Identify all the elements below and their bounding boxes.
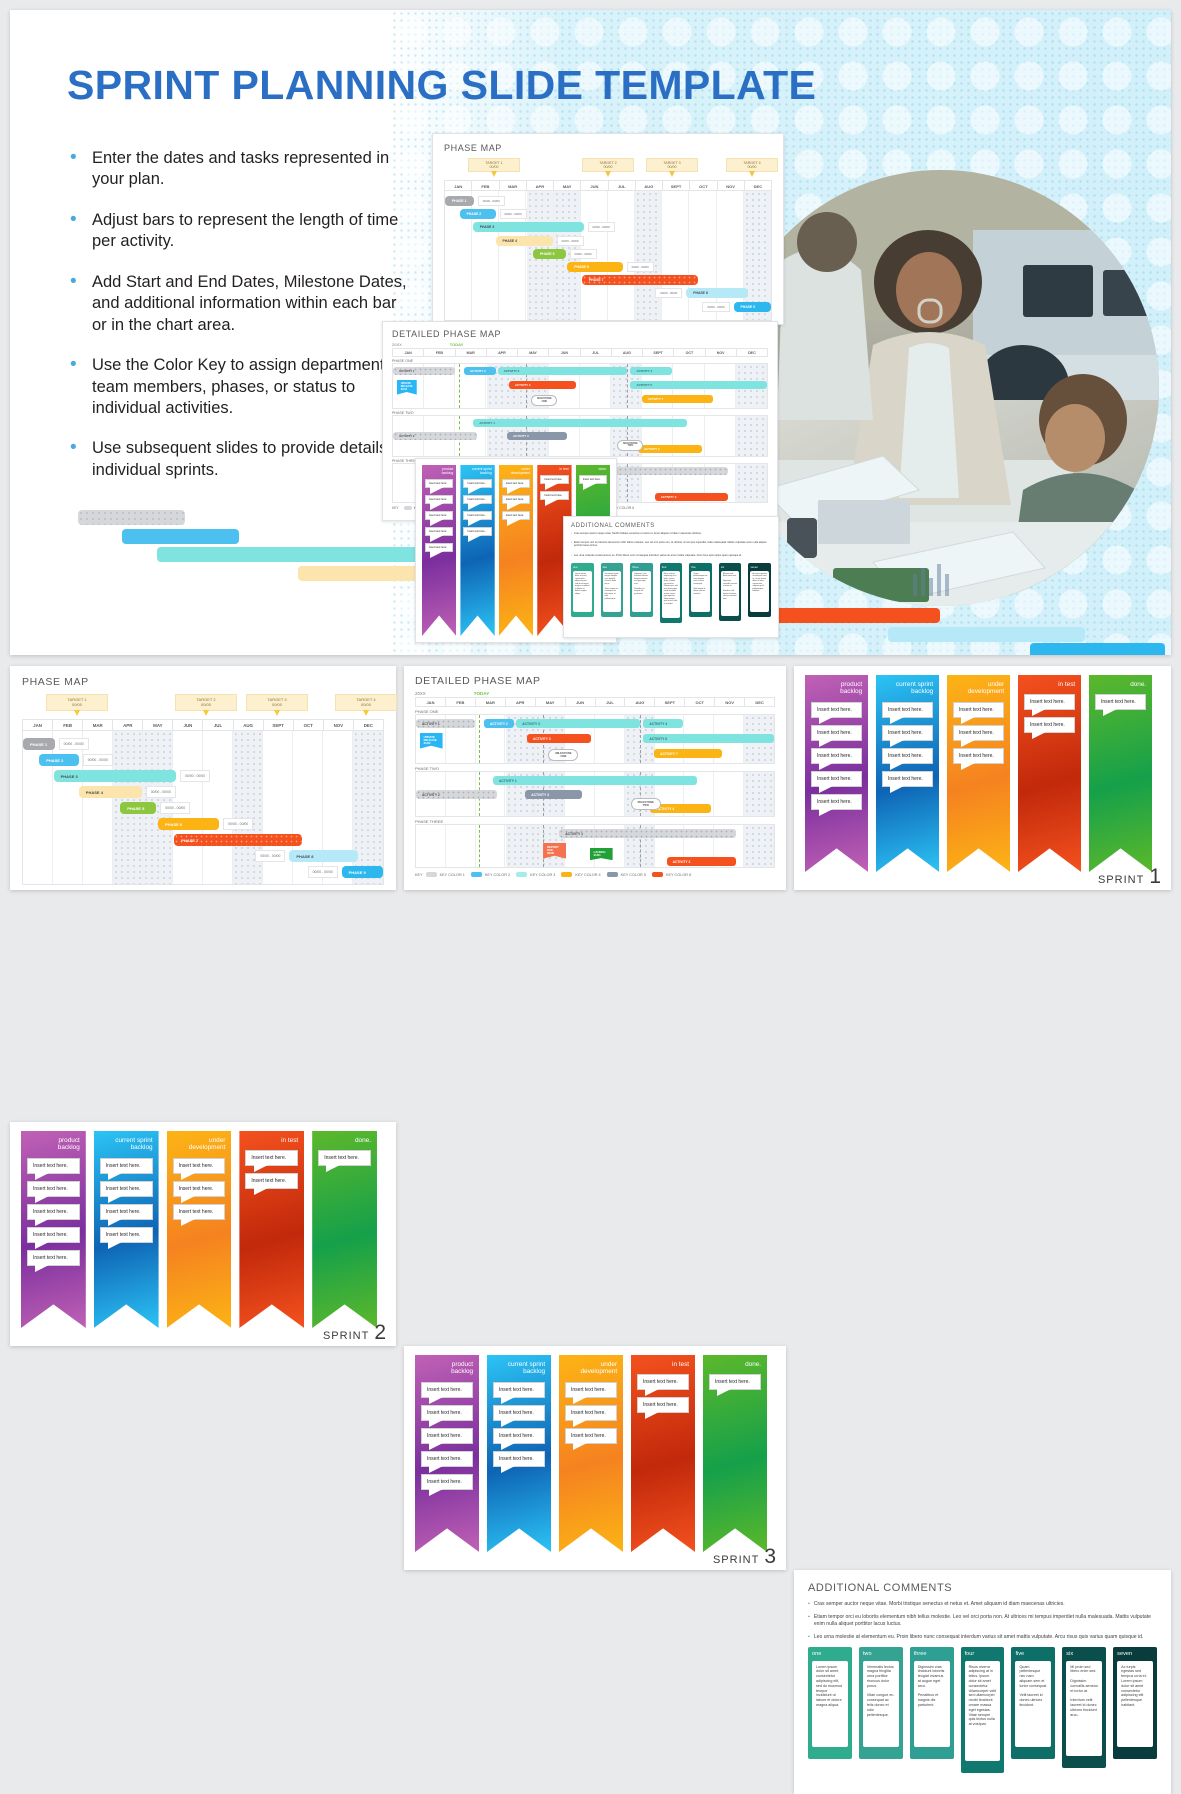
comment-card[interactable]: fiveQuam pellentesque nec nam aliquam se… <box>689 563 712 617</box>
thumbnail-detailed-phase-map[interactable]: DETAILED PHASE MAP 20XX TODAY JANFEBMARA… <box>404 666 786 890</box>
key-color-label: KEY COLOR 3 <box>530 873 555 877</box>
bullet-square-icon: ▪ <box>808 1634 810 1641</box>
comment-card[interactable]: sixMi proin sed libero enim sed. Digniss… <box>1062 1647 1106 1769</box>
comment-bullet: ▪Cras semper auctor neque vitae. Morbi t… <box>808 1601 1157 1608</box>
month-cell: AUG <box>625 698 655 706</box>
bullet-square-icon: ▪ <box>808 1601 810 1608</box>
gantt-bar[interactable]: PHASE 4 <box>79 786 142 798</box>
activity-bar[interactable]: ACTIVITY 4 <box>630 367 671 375</box>
kanban-card[interactable]: Insert text here. <box>421 1405 473 1421</box>
bullet-list: • Enter the dates and tasks represented … <box>70 148 410 500</box>
kanban-card[interactable]: Insert text here. <box>953 748 1004 764</box>
kanban-column-title: productbacklog <box>425 468 453 476</box>
comment-card[interactable]: sevenAc turpis egestas sed tempus urna e… <box>1113 1647 1157 1759</box>
flag-line: 00/00 <box>547 852 562 855</box>
title-line: current sprint <box>882 681 933 688</box>
month-cell: FEB <box>424 349 455 356</box>
activity-bar[interactable]: ACTIVITY 3 <box>507 432 567 440</box>
comment-card[interactable]: oneLorem ipsum dolor sit amet, consectet… <box>571 563 594 617</box>
month-cell: MAR <box>476 698 506 706</box>
activity-bar-label: ACTIVITY 4 <box>644 447 660 451</box>
gantt-date-label: 00/00 - 00/00 <box>180 770 210 782</box>
kanban-card[interactable]: Insert text here. <box>425 479 453 488</box>
activity-bar[interactable]: ACTIVITY 1 <box>416 719 475 728</box>
title-line: development <box>565 1368 617 1375</box>
kanban-card[interactable]: Insert text here. <box>493 1382 545 1398</box>
gantt-bar-label: PHASE 5 <box>540 252 555 256</box>
sprint-word: SPRINT <box>1098 874 1144 886</box>
grid-column <box>608 191 635 320</box>
gantt-bar[interactable]: PHASE 7 <box>582 275 698 285</box>
grid-column <box>662 191 689 320</box>
title-line: in test <box>245 1137 298 1144</box>
kanban-column[interactable]: underdevelopmentInsert text here.Insert … <box>167 1131 232 1328</box>
activity-bar[interactable]: ACTIVITY 4 <box>638 445 702 453</box>
milestone-badge[interactable]: MILESTONEONE <box>548 749 578 761</box>
activity-bar[interactable]: ACTIVITY 6 <box>643 734 774 743</box>
detailed-phase-map-title: DETAILED PHASE MAP <box>415 675 775 687</box>
kanban-card[interactable]: Insert text here. <box>173 1158 226 1174</box>
activity-bar[interactable]: ACTIVITY 1 <box>393 367 455 375</box>
title-line: under <box>953 681 1004 688</box>
kanban-card[interactable]: Insert text here. <box>100 1181 153 1197</box>
bullet-dot-icon: • <box>70 438 92 481</box>
kanban-column[interactable]: current sprintbacklogInsert text here.In… <box>876 675 939 872</box>
kanban-card[interactable]: Insert text here. <box>173 1204 226 1220</box>
phase-band: ACTIVITY 1ACTIVITY 2REPORT DUE00/00LAUNC… <box>415 824 775 868</box>
phase-band: ACTIVITY 1ACTIVITY 2ACTIVITY 3ACTIVITY 4… <box>415 714 775 764</box>
kanban-card[interactable]: Insert text here. <box>100 1204 153 1220</box>
kanban-card[interactable]: Insert text here. <box>318 1150 371 1166</box>
phase-band: ACTIVITY 1ACTIVITY 2ACTIVITY 3ACTIVITY 4… <box>392 415 768 457</box>
kanban-card[interactable]: Insert text here. <box>27 1204 80 1220</box>
kanban-card[interactable]: Insert text here. <box>421 1474 473 1490</box>
kanban-column[interactable]: productbacklogInsert text here.Insert te… <box>21 1131 86 1328</box>
comment-card-heading: seven <box>750 565 769 569</box>
kanban-column[interactable]: current sprintbacklogInsert text here.In… <box>94 1131 159 1328</box>
kanban-card[interactable]: Insert text here. <box>173 1181 226 1197</box>
month-cell: AUG <box>612 349 643 356</box>
comments-title: ADDITIONAL COMMENTS <box>808 1582 1157 1594</box>
kanban-card[interactable]: Insert text here. <box>565 1382 617 1398</box>
month-cell: JUN <box>549 349 580 356</box>
kanban-card[interactable]: Insert text here. <box>1024 694 1075 710</box>
comments-bullets: ▪Cras semper auctor neque vitae. Morbi t… <box>571 532 771 557</box>
activity-bar-label: ACTIVITY 2 <box>470 369 486 373</box>
activity-bar-label: ACTIVITY 7 <box>660 752 678 756</box>
gantt-bar[interactable]: PHASE 5 <box>120 802 156 814</box>
comments-title: ADDITIONAL COMMENTS <box>571 523 771 529</box>
kanban-card[interactable]: Insert text here. <box>502 495 530 504</box>
kanban-column[interactable]: productbacklogInsert text here.Insert te… <box>422 465 456 636</box>
kanban-card[interactable]: Insert text here. <box>953 725 1004 741</box>
kanban-card[interactable]: Insert text here. <box>882 748 933 764</box>
kanban-card[interactable]: Insert text here. <box>502 479 530 488</box>
gantt-bar[interactable]: PHASE 3 <box>54 770 176 782</box>
month-cell: NOV <box>324 720 354 730</box>
kanban-card[interactable]: Insert text here. <box>811 771 862 787</box>
gantt-date-label: 00/00 - 00/00 <box>83 754 113 766</box>
key-swatch <box>561 872 572 877</box>
kanban-card[interactable]: Insert text here. <box>27 1227 80 1243</box>
month-cell: NOV <box>715 698 745 706</box>
gantt-bar-label: PHASE 2 <box>467 212 482 216</box>
kanban-card[interactable]: Insert text here. <box>811 725 862 741</box>
kanban-card[interactable]: Insert text here. <box>709 1374 761 1390</box>
target-date: 00/00 <box>727 165 777 169</box>
title-line: backlog <box>425 472 453 476</box>
kanban-card[interactable]: Insert text here. <box>463 479 491 488</box>
activity-bar[interactable]: ACTIVITY 4 <box>643 719 682 728</box>
bullet-text: Use the Color Key to assign departments,… <box>92 355 410 419</box>
kanban-card[interactable]: Insert text here. <box>953 702 1004 718</box>
kanban-card[interactable]: Insert text here. <box>882 702 933 718</box>
kanban-card[interactable]: Insert text here. <box>493 1428 545 1444</box>
comment-card[interactable]: threeDignissim cras tincidunt lobortis f… <box>630 563 653 617</box>
kanban-column[interactable]: in testInsert text here.Insert text here… <box>631 1355 695 1552</box>
gantt-bar[interactable]: PHASE 9 <box>734 302 771 312</box>
kanban-card[interactable]: Insert text here. <box>27 1158 80 1174</box>
kanban-column-title: productbacklog <box>27 1137 80 1152</box>
activity-bar-label: ACTIVITY 1 <box>499 779 517 783</box>
title-line: backlog <box>811 688 862 695</box>
activity-bar[interactable]: ACTIVITY 3 <box>498 367 627 375</box>
thumbnail-sprint-1[interactable]: productbacklogInsert text here.Insert te… <box>794 666 1171 890</box>
kanban-card[interactable]: Insert text here. <box>882 771 933 787</box>
kanban-column-title: current sprintbacklog <box>493 1361 545 1376</box>
comment-bullet: ▪Leo urna molestie at elementum eu. Proi… <box>571 554 771 557</box>
comment-card-heading: seven <box>1117 1651 1153 1657</box>
team-photo <box>723 170 1159 606</box>
comment-card[interactable]: threeDignissim cras tincidunt lobortis f… <box>910 1647 954 1759</box>
target-marker: TARGET 1 00/00 <box>46 694 108 711</box>
thumbnail-additional-comments[interactable]: ADDITIONAL COMMENTS ▪Cras semper auctor … <box>794 1570 1171 1794</box>
gantt-bar-label: PHASE 8 <box>693 291 708 295</box>
kanban-card[interactable]: Insert text here. <box>565 1428 617 1444</box>
kanban-column[interactable]: underdevelopmentInsert text here.Insert … <box>559 1355 623 1552</box>
comment-card[interactable]: fourRisus viverra adipiscing at in tellu… <box>961 1647 1005 1773</box>
grid-column <box>714 772 744 816</box>
gantt-date-label: 00/00 - 00/00 <box>146 786 176 798</box>
kanban-column[interactable]: current sprintbacklogInsert text here.In… <box>460 465 494 636</box>
grid-column <box>446 825 476 867</box>
gantt-date-label: 00/00 - 00/00 <box>702 302 729 312</box>
kanban-column-title: current sprintbacklog <box>100 1137 153 1152</box>
activity-bar[interactable]: ACTIVITY 2 <box>464 367 496 375</box>
kanban-card[interactable]: Insert text here. <box>463 527 491 536</box>
comment-bullet: ▪Etiam tempor orci eu lobortis elementum… <box>808 1614 1157 1628</box>
title-line: product <box>811 681 862 688</box>
comment-card[interactable]: twoVenenatis lectus magna fringilla urna… <box>859 1647 903 1759</box>
kanban-card[interactable]: Insert text here. <box>540 491 568 500</box>
kanban-column-title: productbacklog <box>421 1361 473 1376</box>
gantt-date-label: 00/00 - 00/00 <box>500 209 527 219</box>
kanban-card[interactable]: Insert text here. <box>27 1181 80 1197</box>
kanban-column-title: underdevelopment <box>565 1361 617 1376</box>
comment-card[interactable]: twoVenenatis lectus magna fringilla urna… <box>601 563 624 617</box>
title-line: development <box>953 688 1004 695</box>
month-cell: JAN <box>445 181 472 190</box>
month-cell: JAN <box>23 720 53 730</box>
flag-line: 01/01 <box>594 854 609 857</box>
decorative-bar <box>1030 643 1165 655</box>
title-line: done. <box>709 1361 761 1368</box>
kanban-column[interactable]: in testInsert text here.Insert text here… <box>239 1131 304 1328</box>
activity-bar[interactable]: ACTIVITY 3 <box>527 734 591 743</box>
gantt-bar-label: PHASE 4 <box>86 790 103 795</box>
kanban-card[interactable]: Insert text here. <box>493 1451 545 1467</box>
month-cell: JUN <box>566 698 596 706</box>
decorative-bar <box>157 547 420 562</box>
gantt-bar-label: PHASE 8 <box>296 854 313 859</box>
comment-card[interactable]: sevenAc turpis egestas sed tempus urna e… <box>748 563 771 617</box>
comment-card[interactable]: fourRisus viverra adipiscing at in tellu… <box>660 563 683 623</box>
month-cell: SEPT <box>264 720 294 730</box>
kanban-card[interactable]: Insert text here. <box>463 511 491 520</box>
kanban-ribbon: productbacklogInsert text here.Insert te… <box>21 1131 86 1328</box>
sprint-number-badge: SPRINT3 <box>713 1548 776 1566</box>
kanban-card[interactable]: Insert text here. <box>425 511 453 520</box>
month-cell: DEC <box>745 181 771 190</box>
bullet-text: Adjust bars to represent the length of t… <box>92 210 410 253</box>
month-cell: JAN <box>416 698 446 706</box>
target-date: 00/00 <box>647 165 697 169</box>
target-marker: TARGET 2 00/00 <box>175 694 237 711</box>
month-cell: MAR <box>456 349 487 356</box>
month-cell: JUN <box>173 720 203 730</box>
milestone-line: TWO <box>623 445 638 448</box>
grid-column <box>203 731 233 884</box>
sprint-word: SPRINT <box>323 1330 369 1342</box>
kanban-card[interactable]: Insert text here. <box>245 1173 298 1189</box>
gantt-date-label: 00/00 - 00/00 <box>160 802 190 814</box>
title-line: backlog <box>100 1144 153 1151</box>
phase-map-grid: PHASE 100/00 - 00/00PHASE 200/00 - 00/00… <box>444 191 772 321</box>
title-line: in test <box>637 1361 689 1368</box>
list-item: • Add Start and End Dates, Milestone Dat… <box>70 272 410 336</box>
activity-bar-label: ACTIVITY 3 <box>531 793 549 797</box>
kanban-card[interactable]: Insert text here. <box>540 475 568 484</box>
grid-column <box>744 825 774 867</box>
kanban-ribbon: done.Insert text here. <box>703 1355 767 1552</box>
activity-bar-label: ACTIVITY 3 <box>533 737 551 741</box>
thumbnail-sprint-2[interactable]: productbacklogInsert text here.Insert te… <box>10 1122 396 1346</box>
gantt-bar[interactable]: PHASE 2 <box>39 754 79 766</box>
activity-bar-label: ACTIVITY 1 <box>565 832 583 836</box>
kanban-card[interactable]: Insert text here. <box>637 1374 689 1390</box>
comment-card[interactable]: fiveQuam pellentesque nec nam aliquam se… <box>1011 1647 1055 1759</box>
bullet-dot-icon: • <box>70 210 92 253</box>
comment-card-heading: five <box>691 565 710 569</box>
thumbnail-sprint-3[interactable]: productbacklogInsert text here.Insert te… <box>404 1346 786 1570</box>
activity-bar[interactable]: ACTIVITY 2 <box>655 493 728 501</box>
phase-section: PHASE TWO ACTIVITY 1ACTIVITY 2ACTIVITY 3… <box>415 766 775 817</box>
gantt-bar[interactable]: PHASE 6 <box>567 262 622 272</box>
activity-bar-label: ACTIVITY 2 <box>673 860 691 864</box>
kanban-card[interactable]: Insert text here. <box>421 1451 473 1467</box>
comment-card-body: Lorem ipsum dolor sit amet, consectetur … <box>573 571 592 612</box>
activity-bar-label: ACTIVITY 3 <box>515 383 531 387</box>
activity-bar-label: ACTIVITY 2 <box>490 722 508 726</box>
comment-card-body: Mi proin sed libero enim sed. Dignissim … <box>721 571 740 616</box>
kanban-card[interactable]: Insert text here. <box>463 495 491 504</box>
today-line <box>459 364 460 408</box>
comment-card-heading: four <box>965 1651 1001 1657</box>
title-line: done. <box>318 1137 371 1144</box>
month-cell: OCT <box>294 720 324 730</box>
title-line: development <box>502 472 530 476</box>
activity-bar[interactable]: ACTIVITY 1 <box>473 419 686 427</box>
comment-bullet: ▪Cras semper auctor neque vitae. Morbi t… <box>571 532 771 535</box>
activity-bar[interactable]: ACTIVITY 7 <box>654 749 722 758</box>
kanban-column[interactable]: done.Insert text here. <box>312 1131 377 1328</box>
activity-bar[interactable]: ACTIVITY 3 <box>516 719 640 728</box>
comment-card[interactable]: oneLorem ipsum dolor sit amet, consectet… <box>808 1647 852 1759</box>
kanban-column[interactable]: underdevelopmentInsert text here.Insert … <box>499 465 533 636</box>
activity-bar-label: ACTIVITY 2 <box>422 793 440 797</box>
activity-bar[interactable]: ACTIVITY 1 <box>493 776 697 785</box>
kanban-card[interactable]: Insert text here. <box>425 495 453 504</box>
kanban-column[interactable]: current sprintbacklogInsert text here.In… <box>487 1355 551 1552</box>
kanban-card[interactable]: Insert text here. <box>637 1397 689 1413</box>
month-cell: JUL <box>581 349 612 356</box>
kanban-column-title: done. <box>1095 681 1146 688</box>
comment-text: Cras semper auctor neque vitae. Morbi tr… <box>574 532 702 535</box>
phase-map-month-header: JANFEBMARAPRMAYJUNJULAUGSEPTOCTNOVDEC <box>22 719 384 731</box>
milestone-badge[interactable]: MILESTONETWO <box>631 798 661 810</box>
gantt-bar[interactable]: PHASE 5 <box>533 249 566 259</box>
activity-bar[interactable]: ACTIVITY 6 <box>630 381 767 389</box>
kanban-column[interactable]: underdevelopmentInsert text here.Insert … <box>947 675 1010 872</box>
activity-bar[interactable]: ACTIVITY 2 <box>667 857 737 866</box>
detailed-phase-map-title: DETAILED PHASE MAP <box>392 329 768 339</box>
kanban-card[interactable]: Insert text here. <box>882 725 933 741</box>
kanban-card[interactable]: Insert text here. <box>421 1428 473 1444</box>
title-line: development <box>173 1144 226 1151</box>
sprint-number: 3 <box>764 1548 776 1566</box>
kanban-card[interactable]: Insert text here. <box>811 794 862 810</box>
activity-bar-label: ACTIVITY 7 <box>648 397 664 401</box>
sprint-number-badge: SPRINT2 <box>323 1324 386 1342</box>
activity-bar[interactable]: ACTIVITY 1 <box>559 829 736 838</box>
milestone-badge[interactable]: MILESTONETWO <box>617 440 643 451</box>
kanban-card[interactable]: Insert text here. <box>1095 694 1146 710</box>
gantt-bar[interactable]: PHASE 9 <box>342 866 383 878</box>
kanban-column[interactable]: productbacklogInsert text here.Insert te… <box>805 675 868 872</box>
comment-text: Cras semper auctor neque vitae. Morbi tr… <box>814 1601 1065 1608</box>
title-line: product <box>27 1137 80 1144</box>
activity-bar[interactable]: ACTIVITY 3 <box>525 790 582 799</box>
activity-bar[interactable]: ACTIVITY 2 <box>393 432 477 440</box>
sprint-number: 2 <box>374 1324 386 1342</box>
kanban-card[interactable]: Insert text here. <box>425 527 453 536</box>
color-key: KEYKEY COLOR 1KEY COLOR 2KEY COLOR 3KEY … <box>415 872 775 877</box>
activity-bar[interactable]: ACTIVITY 3 <box>509 381 576 389</box>
thumbnail-phase-map[interactable]: PHASE MAP TARGET 1 00/00 TARGET 2 00/00 … <box>10 666 396 890</box>
gantt-bar[interactable]: PHASE 8 <box>289 850 357 862</box>
phase-section: PHASE THREE ACTIVITY 1ACTIVITY 2REPORT D… <box>415 819 775 868</box>
flag-line: 01/02 <box>424 742 439 745</box>
activity-bar[interactable]: ACTIVITY 2 <box>484 719 514 728</box>
kanban-card[interactable]: Insert text here. <box>565 1405 617 1421</box>
kanban-column[interactable]: productbacklogInsert text here.Insert te… <box>415 1355 479 1552</box>
kanban-column[interactable]: done.Insert text here. <box>1089 675 1152 872</box>
additional-comments-preview: ADDITIONAL COMMENTS ▪Cras semper auctor … <box>563 516 779 638</box>
activity-bar[interactable]: ACTIVITY 7 <box>642 395 713 403</box>
kanban-card[interactable]: Insert text here. <box>811 702 862 718</box>
target-date: 00/00 <box>47 703 107 708</box>
kanban-column[interactable]: in testInsert text here.Insert text here… <box>1018 675 1081 872</box>
kanban-card[interactable]: Insert text here. <box>100 1158 153 1174</box>
key-swatch <box>652 872 663 877</box>
kanban-card[interactable]: Insert text here. <box>245 1150 298 1166</box>
kanban-card[interactable]: Insert text here. <box>811 748 862 764</box>
comment-card-heading: five <box>1015 1651 1051 1657</box>
kanban-card[interactable]: Insert text here. <box>579 475 607 484</box>
month-cell: SEPT <box>643 349 674 356</box>
comment-card[interactable]: sixMi proin sed libero enim sed. Digniss… <box>719 563 742 621</box>
comment-text: Etiam tempor orci eu lobortis elementum … <box>574 541 771 547</box>
gantt-date-label: 00/00 - 00/00 <box>588 222 615 232</box>
grid-column <box>744 772 774 816</box>
title-line: done. <box>1095 681 1146 688</box>
bullet-square-icon: ▪ <box>808 1614 810 1628</box>
team-photo-image <box>723 170 1159 606</box>
comment-text: Leo urna molestie at elementum eu. Proin… <box>574 554 742 557</box>
month-cell: OCT <box>685 698 715 706</box>
month-cell: AUG <box>234 720 264 730</box>
kanban-card[interactable]: Insert text here. <box>493 1405 545 1421</box>
gantt-bar-label: PHASE 1 <box>452 199 467 203</box>
phase-map-targets: TARGET 1 00/00 TARGET 2 00/00 TARGET 3 0… <box>22 694 384 714</box>
target-line <box>627 364 628 408</box>
gantt-bar[interactable]: PHASE 2 <box>460 209 496 219</box>
kanban-card[interactable]: Insert text here. <box>421 1382 473 1398</box>
kanban-card[interactable]: Insert text here. <box>1024 717 1075 733</box>
kanban-column[interactable]: done.Insert text here. <box>703 1355 767 1552</box>
gantt-date-label: 00/00 - 00/00 <box>59 738 89 750</box>
decorative-bar <box>78 510 185 525</box>
kanban-column-title: in test <box>1024 681 1075 688</box>
activity-bar-label: ACTIVITY 1 <box>422 722 440 726</box>
kanban-card[interactable]: Insert text here. <box>27 1250 80 1266</box>
target-date: 00/00 <box>469 165 519 169</box>
comment-card-body: Ac turpis egestas sed tempus urna et. Lo… <box>750 571 769 612</box>
milestone-badge[interactable]: MILESTONEONE <box>531 395 557 406</box>
phase-section: PHASE TWO ACTIVITY 1ACTIVITY 2ACTIVITY 3… <box>392 411 768 457</box>
gantt-bar[interactable]: PHASE 7 <box>174 834 302 846</box>
bullet-square-icon: ▪ <box>571 541 572 547</box>
gantt-bar[interactable]: PHASE 4 <box>496 236 553 246</box>
kanban-card[interactable]: Insert text here. <box>100 1227 153 1243</box>
gantt-bar[interactable]: PHASE 1 <box>445 196 474 206</box>
key-color-label: KEY COLOR 2 <box>485 873 510 877</box>
kanban-card[interactable]: Insert text here. <box>425 543 453 552</box>
milestone-text: MILESTONEONE <box>537 398 552 404</box>
bullet-text: Use subsequent slides to provide details… <box>92 438 410 481</box>
kanban-column-title: current sprintbacklog <box>463 468 491 476</box>
gantt-bar[interactable]: PHASE 1 <box>23 738 55 750</box>
kanban-column-title: underdevelopment <box>502 468 530 476</box>
gantt-bar[interactable]: PHASE 8 <box>686 288 748 298</box>
gantt-bar[interactable]: PHASE 6 <box>158 818 219 830</box>
target-date: 00/00 <box>583 165 633 169</box>
activity-bar[interactable]: ACTIVITY 2 <box>416 790 497 799</box>
kanban-card[interactable]: Insert text here. <box>502 511 530 520</box>
today-label: TODAY <box>450 342 464 347</box>
gantt-bar[interactable]: PHASE 3 <box>473 222 584 232</box>
kanban-ribbon: in testInsert text here.Insert text here… <box>239 1131 304 1328</box>
